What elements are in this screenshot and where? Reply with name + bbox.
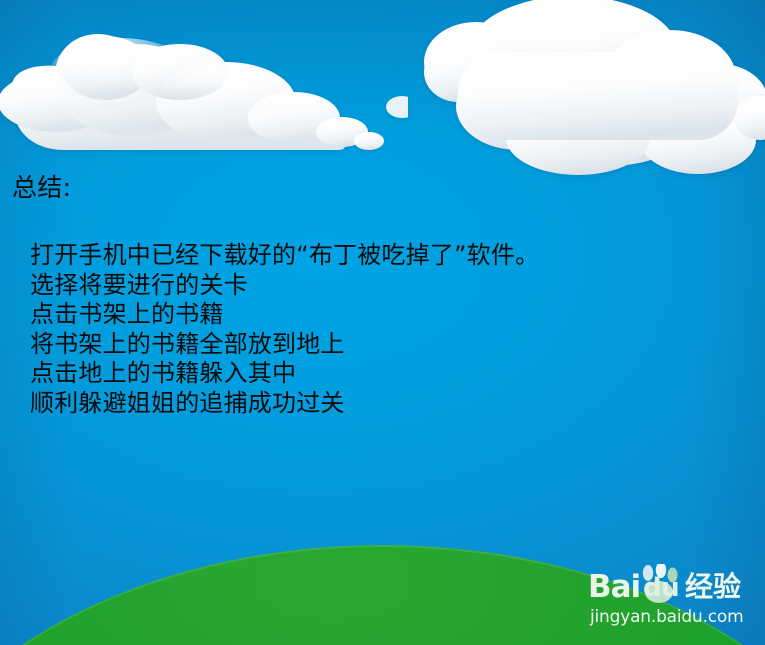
list-item: 选择将要进行的关卡 (30, 271, 650, 301)
cloud-right-shape (398, 0, 765, 175)
list-item: 打开手机中已经下载好的“布丁被吃掉了”软件。 (30, 241, 650, 271)
cloud-left-shape (0, 14, 394, 150)
list-item: 顺利躲避姐姐的追捕成功过关 (30, 389, 650, 419)
summary-steps-list: 打开手机中已经下载好的“布丁被吃掉了”软件。 选择将要进行的关卡 点击书架上的书… (30, 241, 650, 418)
watermark-jingyan-text: 经验 (685, 573, 741, 601)
watermark-bai-text: Bai (588, 572, 640, 603)
cloud-right (398, 0, 765, 175)
list-item: 点击地上的书籍躲入其中 (30, 359, 650, 389)
illustration-slide: 总结: 打开手机中已经下载好的“布丁被吃掉了”软件。 选择将要进行的关卡 点击书… (0, 0, 765, 645)
watermark-url: jingyan.baidu.com (590, 608, 743, 627)
watermark-du-text: du (643, 575, 679, 601)
page-title: 总结: (12, 173, 71, 203)
cloud-left (0, 14, 394, 150)
baidu-jingyan-watermark: Bai du 经验 jingyan.baidu.com (588, 566, 760, 634)
list-item: 将书架上的书籍全部放到地上 (30, 330, 650, 360)
cloud-sliver (384, 94, 408, 120)
watermark-logo-row: Bai du 经验 (588, 566, 760, 608)
cloud-sliver-shape (384, 94, 408, 120)
list-item: 点击书架上的书籍 (30, 300, 650, 330)
